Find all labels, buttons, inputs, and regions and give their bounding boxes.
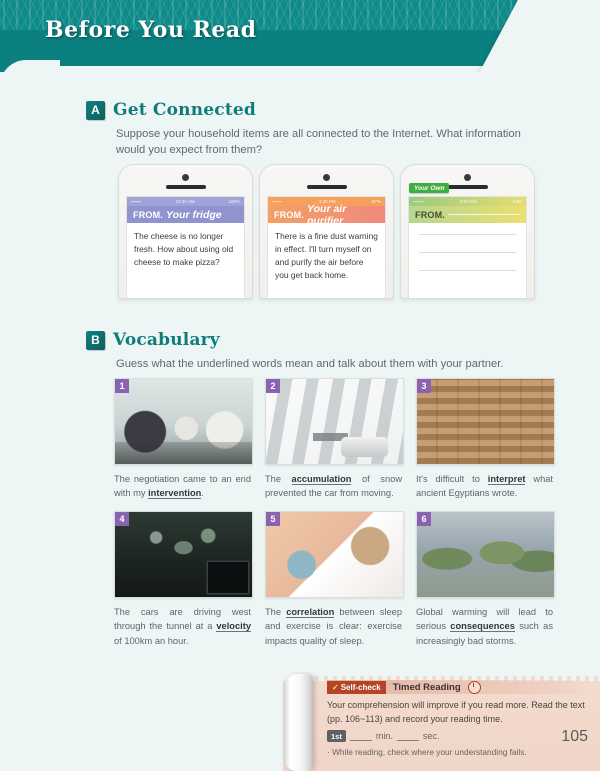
message-text: There is a fine dust warning in effect. …	[268, 223, 385, 282]
self-check-box: ✓ Self-check Timed Reading Your comprehe…	[283, 672, 600, 771]
from-value: Your fridge	[166, 209, 222, 221]
vocab-caption-2: The accumulation of snow prevented the c…	[265, 472, 402, 501]
page-content: A Get Connected Suppose your household i…	[0, 72, 600, 771]
self-check-title: Timed Reading	[393, 682, 461, 693]
message-from-bar: FROM. Your fridge	[127, 206, 244, 223]
vocab-number-badge: 6	[417, 512, 431, 526]
section-a-description: Suppose your household items are all con…	[116, 126, 546, 158]
message-from-bar: FROM. Your air purifier	[268, 206, 385, 223]
vocab-image-storm-palms: 6	[416, 511, 555, 598]
vocabulary-item-1: 1 The negotiation came to an end with my…	[114, 378, 251, 501]
self-check-timer-row[interactable]: 1st min. sec.	[327, 730, 592, 742]
battery-percent: 64%	[513, 199, 522, 204]
seconds-input-blank[interactable]	[397, 732, 419, 741]
vocab-number-badge: 1	[115, 379, 129, 393]
vocab-target-word: accumulation	[292, 474, 352, 485]
vocab-number-badge: 3	[417, 379, 431, 393]
section-get-connected: A Get Connected Suppose your household i…	[86, 100, 546, 158]
minutes-unit-label: min.	[376, 731, 393, 741]
banner-title: Before You Read	[45, 17, 257, 43]
self-check-body: Your comprehension will improve if you r…	[327, 699, 592, 726]
vocabulary-item-6: 6 Global warming will lead to serious co…	[416, 511, 553, 648]
vocab-image-sleep-exercise: 5	[265, 511, 404, 598]
vocabulary-row-2: 4 The cars are driving west through the …	[114, 511, 554, 648]
attempt-ordinal-badge: 1st	[327, 730, 346, 742]
phone-screen-fridge: ▪▪▪▪▪ 10:30 AM 100% FROM. Your fridge Th…	[126, 196, 245, 298]
vocab-caption-6: Global warming will lead to serious cons…	[416, 605, 553, 648]
alarm-clock-icon	[468, 681, 481, 694]
self-check-tag-label: Self-check	[341, 683, 381, 692]
speaker-grill	[166, 185, 206, 189]
speaker-grill	[307, 185, 347, 189]
from-label: FROM.	[133, 210, 163, 220]
paper-curl-decoration	[283, 674, 313, 771]
phone-mockup-your-own: Your Own ▪▪▪▪▪ 8:20 PM 64% FROM.	[400, 164, 535, 299]
vocabulary-grid: 1 The negotiation came to an end with my…	[114, 378, 554, 658]
message-from-bar[interactable]: FROM.	[409, 206, 526, 223]
speaker-grill	[448, 185, 488, 189]
your-own-tag: Your Own	[409, 183, 449, 193]
from-value: Your air purifier	[307, 203, 379, 227]
vocab-caption-1: The negotiation came to an end with my i…	[114, 472, 251, 501]
vocab-target-word: velocity	[216, 621, 251, 632]
banner-bottom-left-curve	[0, 60, 60, 72]
vocabulary-item-2: 2 The accumulation of snow prevented the…	[265, 378, 402, 501]
banner-background: Before You Read	[0, 0, 600, 66]
camera-icon	[464, 174, 471, 181]
self-check-note: · While reading, check where your unders…	[327, 747, 592, 757]
page-number: 105	[561, 728, 588, 746]
write-in-line[interactable]	[419, 270, 516, 271]
self-check-header: ✓ Self-check Timed Reading	[327, 680, 592, 694]
vocab-target-word: intervention	[148, 488, 201, 499]
vocabulary-item-4: 4 The cars are driving west through the …	[114, 511, 251, 648]
section-badge-a: A	[86, 101, 105, 120]
vocab-number-badge: 5	[266, 512, 280, 526]
camera-icon	[323, 174, 330, 181]
phone-mockup-fridge: ▪▪▪▪▪ 10:30 AM 100% FROM. Your fridge Th…	[118, 164, 253, 299]
section-vocabulary: B Vocabulary Guess what the underlined w…	[86, 330, 503, 372]
vocab-caption-5: The correlation between sleep and exerci…	[265, 605, 402, 648]
section-a-heading: A Get Connected	[86, 100, 546, 120]
battery-percent: 100%	[228, 199, 240, 204]
from-label: FROM.	[415, 210, 445, 220]
vocab-image-snow-cars: 2	[265, 378, 404, 465]
page-header-banner: Before You Read	[0, 0, 600, 72]
phone-mockup-air-purifier: ▪▪▪▪▪ 1:30 PM 87% FROM. Your air purifie…	[259, 164, 394, 299]
signal-icon: ▪▪▪▪▪	[131, 199, 141, 204]
section-b-title: Vocabulary	[113, 330, 220, 350]
vocab-target-word: correlation	[286, 607, 334, 618]
vocab-image-negotiation: 1	[114, 378, 253, 465]
section-badge-b: B	[86, 331, 105, 350]
vocabulary-row-1: 1 The negotiation came to an end with my…	[114, 378, 554, 501]
section-b-description: Guess what the underlined words mean and…	[116, 356, 503, 372]
section-b-heading: B Vocabulary	[86, 330, 503, 350]
vocab-caption-3: It's difficult to interpret what ancient…	[416, 472, 553, 501]
minutes-input-blank[interactable]	[350, 732, 372, 741]
vocab-caption-4: The cars are driving west through the tu…	[114, 605, 251, 648]
phone-screen-air-purifier: ▪▪▪▪▪ 1:30 PM 87% FROM. Your air purifie…	[267, 196, 386, 298]
from-write-in-line[interactable]	[448, 214, 520, 215]
vocab-image-tunnel: 4	[114, 511, 253, 598]
vocabulary-item-3: 3 It's difficult to interpret what ancie…	[416, 378, 553, 501]
camera-icon	[182, 174, 189, 181]
vocab-target-word: consequences	[450, 621, 515, 632]
status-time: 8:20 PM	[460, 199, 477, 204]
status-time: 10:30 AM	[175, 199, 194, 204]
vocab-number-badge: 2	[266, 379, 280, 393]
vocabulary-item-5: 5 The correlation between sleep and exer…	[265, 511, 402, 648]
self-check-content: ✓ Self-check Timed Reading Your comprehe…	[327, 680, 592, 757]
signal-icon: ▪▪▪▪▪	[413, 199, 423, 204]
self-check-tag: ✓ Self-check	[327, 681, 386, 694]
vocab-target-word: interpret	[488, 474, 526, 485]
write-in-lines[interactable]	[409, 223, 526, 271]
seconds-unit-label: sec.	[423, 731, 440, 741]
status-bar: ▪▪▪▪▪ 8:20 PM 64%	[409, 197, 526, 206]
status-bar: ▪▪▪▪▪ 10:30 AM 100%	[127, 197, 244, 206]
phone-mockup-row: ▪▪▪▪▪ 10:30 AM 100% FROM. Your fridge Th…	[118, 164, 535, 299]
vocab-image-hieroglyphs: 3	[416, 378, 555, 465]
from-label: FROM.	[274, 210, 304, 220]
section-a-title: Get Connected	[113, 100, 256, 120]
checkmark-icon: ✓	[332, 683, 339, 692]
message-text: The cheese is no longer fresh. How about…	[127, 223, 244, 269]
vocab-number-badge: 4	[115, 512, 129, 526]
signal-icon: ▪▪▪▪▪	[272, 199, 282, 204]
phone-screen-your-own: ▪▪▪▪▪ 8:20 PM 64% FROM.	[408, 196, 527, 298]
